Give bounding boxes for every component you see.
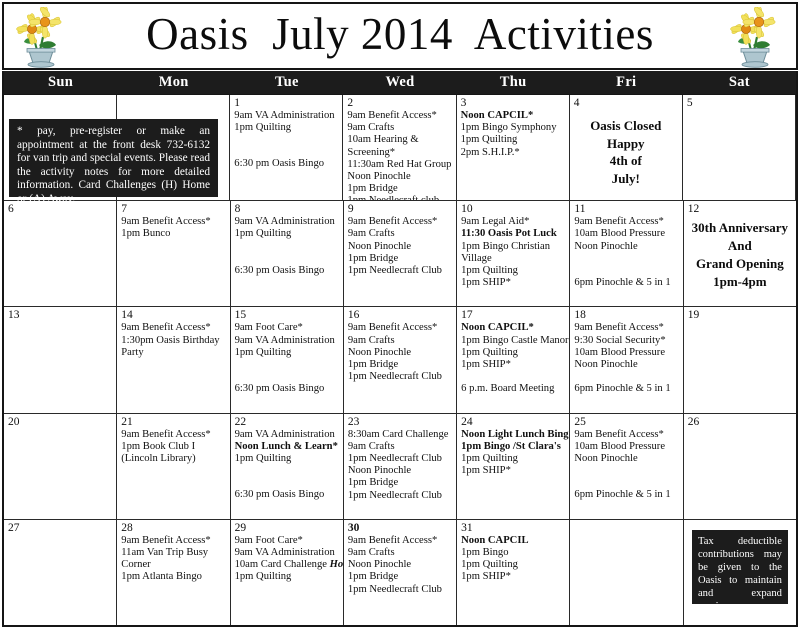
feature-line: Oasis Closed (574, 117, 678, 135)
day-number: 3 (461, 97, 565, 109)
event-item[interactable]: 1pm Bridge (348, 359, 452, 371)
calendar-day-cell[interactable]: 29am Benefit Access*9am Crafts10am Heari… (343, 95, 456, 200)
event-item[interactable]: 1pm Quilting (235, 228, 339, 240)
day-number: 15 (235, 309, 339, 321)
event-item[interactable]: 10am Blood Pressure (574, 441, 678, 453)
calendar-day-cell[interactable]: 159am Foot Care*9am VA Administration1pm… (231, 307, 344, 412)
day-events: 9am Benefit Access*9:30 Social Security*… (574, 322, 678, 395)
day-number: 10 (461, 203, 565, 215)
event-item[interactable]: 1pm Bingo Symphony (461, 122, 565, 134)
event-item[interactable]: 11:30am Red Hat Group (347, 159, 451, 171)
day-events: 9am Benefit Access*9am Crafts10am Hearin… (347, 110, 451, 200)
activity-notes-callout: * pay, pre-register or make an appointme… (9, 119, 218, 197)
event-item[interactable]: 1pm Quilting (234, 122, 338, 134)
event-item[interactable]: Noon Light Lunch Bingo (461, 429, 565, 441)
event-item[interactable]: 1pm SHIP* (461, 277, 565, 289)
day-number: 5 (687, 97, 791, 109)
event-item[interactable]: 9am Foot Care* (235, 322, 339, 334)
event-item[interactable]: 9am Benefit Access* (348, 216, 452, 228)
event-item[interactable]: (Lincoln Library) (121, 453, 225, 465)
event-item[interactable]: 9am Benefit Access* (574, 429, 678, 441)
event-item[interactable]: 1pm Bingo Castle Manor (461, 335, 565, 347)
event-item[interactable]: 9am Crafts (348, 547, 452, 559)
calendar-day-cell[interactable]: 6 (4, 201, 117, 306)
calendar-day-cell[interactable]: 4Oasis ClosedHappy4th ofJuly! (570, 95, 683, 200)
event-item[interactable]: 9am Benefit Access* (348, 322, 452, 334)
event-item[interactable]: Noon CAPCIL* (461, 322, 565, 334)
day-events: 9am VA AdministrationNoon Lunch & Learn*… (235, 429, 339, 502)
calendar-day-cell[interactable]: 17Noon CAPCIL*1pm Bingo Castle Manor1pm … (457, 307, 570, 412)
event-item[interactable]: 1pm Needlecraft Club (348, 453, 452, 465)
calendar-day-cell[interactable]: 169am Benefit Access*9am CraftsNoon Pino… (344, 307, 457, 412)
calendar-empty-cell[interactable] (570, 520, 683, 625)
event-item[interactable]: 9am VA Administration (235, 216, 339, 228)
event-item[interactable]: 1pm SHIP* (461, 571, 565, 583)
event-item[interactable]: 1pm Quilting (461, 559, 565, 571)
event-item[interactable]: 1pm Bingo /St Clara's (461, 441, 565, 453)
event-item[interactable]: Noon Pinochle (348, 465, 452, 477)
calendar-day-cell[interactable]: 19 (684, 307, 796, 412)
calendar-day-cell[interactable]: 99am Benefit Access*9am CraftsNoon Pinoc… (344, 201, 457, 306)
event-item[interactable]: 1pm Needlecraft Club (348, 584, 452, 596)
calendar-day-cell[interactable]: 189am Benefit Access*9:30 Social Securit… (570, 307, 683, 412)
event-item[interactable]: 9am Benefit Access* (348, 535, 452, 547)
event-item[interactable]: 11:30 Oasis Pot Luck (461, 228, 565, 240)
day-number: 1 (234, 97, 338, 109)
calendar-day-cell[interactable]: 27 (4, 520, 117, 625)
day-number: 27 (8, 522, 112, 534)
feature-line: 30th Anniversary (688, 219, 792, 237)
event-item[interactable]: Screening* (347, 147, 451, 159)
day-events: 9am Foot Care*9am VA Administration10am … (235, 535, 339, 584)
event-item[interactable]: 10am Hearing & (347, 134, 451, 146)
event-item[interactable]: 1pm Quilting (461, 134, 565, 146)
event-item[interactable]: 1pm Quilting (235, 347, 339, 359)
day-events: 9am Benefit Access*9am CraftsNoon Pinoch… (348, 322, 452, 383)
day-events: 9am Foot Care*9am VA Administration1pm Q… (235, 322, 339, 395)
day-events: 8:30am Card Challenge9am Crafts1pm Needl… (348, 429, 452, 502)
day-number: 17 (461, 309, 565, 321)
event-item[interactable]: 1pm Quilting (235, 453, 339, 465)
calendar-day-cell[interactable]: 24Noon Light Lunch Bingo1pm Bingo /St Cl… (457, 414, 570, 519)
event-item[interactable]: 9am Crafts (348, 441, 452, 453)
day-number: 29 (235, 522, 339, 534)
event-item[interactable]: 1pm Book Club I (121, 441, 225, 453)
day-number: 8 (235, 203, 339, 215)
event-item[interactable]: 1pm Needlecraft Club (348, 371, 452, 383)
calendar-day-cell[interactable]: 19am VA Administration1pm Quilting6:30 p… (230, 95, 343, 200)
event-item[interactable]: Noon Pinochle (574, 359, 678, 371)
day-of-week-header: Sun Mon Tue Wed Thu Fri Sat (2, 71, 798, 94)
event-item[interactable]: 9am Benefit Access* (121, 429, 225, 441)
sunflower-pot-icon (12, 7, 74, 69)
calendar-day-cell[interactable]: 109am Legal Aid*11:30 Oasis Pot Luck1pm … (457, 201, 570, 306)
event-item[interactable]: 9am VA Administration (235, 429, 339, 441)
day-number: 20 (8, 416, 112, 428)
event-item[interactable]: 1pm Quilting (235, 571, 339, 583)
day-number: 2 (347, 97, 451, 109)
event-item[interactable]: 9am VA Administration (234, 110, 338, 122)
event-item[interactable]: 9am Benefit Access* (574, 322, 678, 334)
event-item[interactable]: 9am Benefit Access* (121, 535, 225, 547)
event-item[interactable]: 6:30 pm Oasis Bingo (234, 158, 338, 170)
event-item[interactable]: 6:30 pm Oasis Bingo (235, 383, 339, 395)
day-header-fri: Fri (570, 71, 683, 94)
day-number: 21 (121, 416, 225, 428)
day-number: 11 (574, 203, 678, 215)
day-number: 31 (461, 522, 565, 534)
calendar-day-cell[interactable]: 5 (683, 95, 796, 200)
calendar-day-cell[interactable]: 119am Benefit Access*10am Blood Pressure… (570, 201, 683, 306)
day-number: 18 (574, 309, 678, 321)
feature-line: July! (574, 170, 678, 188)
calendar-page: Oasis July 2014 Activities (0, 0, 800, 628)
day-events: Noon CAPCIL*1pm Bingo Symphony1pm Quilti… (461, 110, 565, 159)
day-number: 7 (121, 203, 225, 215)
day-feature-text: 30th AnniversaryAndGrand Opening1pm-4pm (688, 219, 792, 291)
feature-line: 4th of (574, 152, 678, 170)
calendar-week-row: 20219am Benefit Access*1pm Book Club I(L… (4, 414, 796, 520)
day-number: 19 (688, 309, 792, 321)
event-item[interactable]: 1pm Bridge (348, 477, 452, 489)
event-item[interactable]: 1pm Quilting (461, 453, 565, 465)
tax-deductible-note: Tax deductible contributions may be give… (692, 530, 788, 604)
calendar-day-cell[interactable]: 149am Benefit Access*1:30pm Oasis Birthd… (117, 307, 230, 412)
event-item[interactable]: 9:30 Social Security* (574, 335, 678, 347)
day-events: Noon CAPCIL*1pm Bingo Castle Manor1pm Qu… (461, 322, 565, 395)
event-item[interactable]: 1pm SHIP* (461, 465, 565, 477)
day-header-sun: Sun (4, 71, 117, 94)
event-item[interactable]: 1pm Quilting (461, 265, 565, 277)
day-number: 25 (574, 416, 678, 428)
calendar-day-cell[interactable]: 259am Benefit Access*10am Blood Pressure… (570, 414, 683, 519)
feature-line: Grand Opening (688, 255, 792, 273)
day-events: 9am Benefit Access*1pm Book Club I(Linco… (121, 429, 225, 466)
event-item[interactable]: 10am Blood Pressure (574, 347, 678, 359)
day-events: Noon Light Lunch Bingo1pm Bingo /St Clar… (461, 429, 565, 478)
event-item[interactable]: 9am Benefit Access* (121, 216, 225, 228)
event-item[interactable]: 1pm SHIP* (461, 359, 565, 371)
day-header-thu: Thu (457, 71, 570, 94)
calendar-day-cell[interactable]: 219am Benefit Access*1pm Book Club I(Lin… (117, 414, 230, 519)
event-item[interactable]: Noon Pinochle (348, 559, 452, 571)
event-item[interactable]: 6 p.m. Board Meeting (461, 383, 565, 395)
calendar-day-cell[interactable]: 1230th AnniversaryAndGrand Opening1pm-4p… (684, 201, 796, 306)
event-item[interactable]: 6pm Pinochle & 5 in 1 (574, 383, 678, 395)
event-item[interactable]: 1pm Bridge (348, 571, 452, 583)
event-item[interactable]: 1pm Needlecraft club (347, 195, 451, 200)
calendar-day-cell[interactable]: 289am Benefit Access*11am Van Trip BusyC… (117, 520, 230, 625)
event-item[interactable]: Noon Lunch & Learn* (235, 441, 339, 453)
page-title: Oasis July 2014 Activities (146, 12, 654, 61)
event-item[interactable]: Noon Pinochle (348, 241, 452, 253)
feature-line: And (688, 237, 792, 255)
calendar-day-cell[interactable]: 299am Foot Care*9am VA Administration10a… (231, 520, 344, 625)
day-number: 9 (348, 203, 452, 215)
event-emphasis: Home (330, 559, 344, 570)
calendar-day-cell[interactable]: 3Noon CAPCIL*1pm Bingo Symphony1pm Quilt… (457, 95, 570, 200)
event-item[interactable]: 6pm Pinochle & 5 in 1 (574, 277, 678, 289)
day-events: 9am Benefit Access*1:30pm Oasis Birthday… (121, 322, 225, 359)
event-item[interactable]: 1pm Needlecraft Club (348, 490, 452, 502)
day-events: Noon CAPCIL1pm Bingo1pm Quilting1pm SHIP… (461, 535, 565, 584)
event-item[interactable]: 1pm Needlecraft Club (348, 265, 452, 277)
event-item[interactable]: 9am Crafts (348, 228, 452, 240)
feature-line: 1pm-4pm (688, 273, 792, 291)
calendar-day-cell[interactable]: 309am Benefit Access*9am CraftsNoon Pino… (344, 520, 457, 625)
day-header-wed: Wed (343, 71, 456, 94)
calendar-day-cell[interactable]: 26 (684, 414, 796, 519)
event-item[interactable]: 9am Benefit Access* (574, 216, 678, 228)
event-item[interactable]: Noon Pinochle (574, 453, 678, 465)
calendar-day-cell[interactable]: 79am Benefit Access*1pm Bunco (117, 201, 230, 306)
day-events: 9am Benefit Access*11am Van Trip BusyCor… (121, 535, 225, 584)
day-number: 22 (235, 416, 339, 428)
day-number: 26 (688, 416, 792, 428)
event-item[interactable]: 9am Crafts (347, 122, 451, 134)
event-item[interactable]: 6pm Pinochle & 5 in 1 (574, 489, 678, 501)
event-item[interactable]: Corner (121, 559, 225, 571)
day-events: 9am Legal Aid*11:30 Oasis Pot Luck1pm Bi… (461, 216, 565, 289)
event-item[interactable]: Party (121, 347, 225, 359)
day-events: 9am Benefit Access*1pm Bunco (121, 216, 225, 240)
day-number: 12 (688, 203, 792, 215)
day-number: 4 (574, 97, 678, 109)
event-item[interactable]: Noon CAPCIL* (461, 110, 565, 122)
event-item[interactable]: 2pm S.H.I.P.* (461, 147, 565, 159)
event-item[interactable]: 1pm Bingo (461, 547, 565, 559)
day-header-sat: Sat (683, 71, 796, 94)
day-feature-text: Oasis ClosedHappy4th ofJuly! (574, 117, 678, 187)
event-item[interactable]: 6:30 pm Oasis Bingo (235, 265, 339, 277)
event-item[interactable]: Noon Pinochle (348, 347, 452, 359)
event-item[interactable]: 9am Crafts (348, 335, 452, 347)
event-item[interactable]: 1pm Atlanta Bingo (121, 571, 225, 583)
event-item[interactable]: 8:30am Card Challenge (348, 429, 452, 441)
calendar-day-cell[interactable]: 20 (4, 414, 117, 519)
calendar-day-cell[interactable]: 89am VA Administration1pm Quilting6:30 p… (231, 201, 344, 306)
day-number: 13 (8, 309, 112, 321)
calendar-banner: Oasis July 2014 Activities (2, 2, 798, 70)
event-item[interactable]: Noon Pinochle (347, 171, 451, 183)
day-number: 14 (121, 309, 225, 321)
event-item[interactable]: 6:30 pm Oasis Bingo (235, 489, 339, 501)
event-item[interactable]: 9am VA Administration (235, 547, 339, 559)
event-item[interactable]: 1pm Bridge (347, 183, 451, 195)
event-item[interactable]: Noon Pinochle (574, 241, 678, 253)
sunflower-pot-icon (726, 7, 788, 69)
event-item[interactable]: 1pm Bunco (121, 228, 225, 240)
day-number: 23 (348, 416, 452, 428)
event-item[interactable]: Noon CAPCIL (461, 535, 565, 547)
day-events: 9am Benefit Access*9am CraftsNoon Pinoch… (348, 535, 452, 596)
calendar-week-row: 27289am Benefit Access*11am Van Trip Bus… (4, 520, 796, 625)
calendar-day-cell[interactable]: 13 (4, 307, 117, 412)
feature-line: Happy (574, 135, 678, 153)
event-item[interactable]: 10am Card Challenge Home (235, 559, 339, 571)
day-header-tue: Tue (230, 71, 343, 94)
calendar-grid: 19am VA Administration1pm Quilting6:30 p… (2, 94, 798, 627)
day-header-mon: Mon (117, 71, 230, 94)
event-item[interactable]: 1pm Quilting (461, 347, 565, 359)
day-number: 28 (121, 522, 225, 534)
calendar-week-row: 19am VA Administration1pm Quilting6:30 p… (4, 95, 796, 201)
day-events: 9am VA Administration1pm Quilting6:30 pm… (235, 216, 339, 277)
event-item[interactable]: 9am VA Administration (235, 335, 339, 347)
calendar-week-row: 679am Benefit Access*1pm Bunco89am VA Ad… (4, 201, 796, 307)
event-item[interactable]: 10am Blood Pressure (574, 228, 678, 240)
day-events: 9am Benefit Access*9am CraftsNoon Pinoch… (348, 216, 452, 277)
day-events: 9am Benefit Access*10am Blood PressureNo… (574, 429, 678, 502)
calendar-empty-cell[interactable]: Tax deductible contributions may be give… (684, 520, 796, 625)
calendar-day-cell[interactable]: 31Noon CAPCIL1pm Bingo1pm Quilting1pm SH… (457, 520, 570, 625)
event-item[interactable]: Village (461, 253, 565, 265)
event-item[interactable]: 9am Benefit Access* (121, 322, 225, 334)
event-item[interactable]: 1pm Bingo Christian (461, 241, 565, 253)
event-item[interactable]: 1pm Bridge (348, 253, 452, 265)
day-number: 16 (348, 309, 452, 321)
calendar-day-cell[interactable]: 238:30am Card Challenge9am Crafts1pm Nee… (344, 414, 457, 519)
event-item[interactable]: 9am Foot Care* (235, 535, 339, 547)
day-number: 30 (348, 522, 452, 534)
day-events: 9am VA Administration1pm Quilting6:30 pm… (234, 110, 338, 171)
event-item[interactable]: 9am Benefit Access* (347, 110, 451, 122)
day-events: 9am Benefit Access*10am Blood PressureNo… (574, 216, 678, 289)
event-item[interactable]: 1:30pm Oasis Birthday (121, 335, 225, 347)
calendar-day-cell[interactable]: 229am VA AdministrationNoon Lunch & Lear… (231, 414, 344, 519)
event-item[interactable]: 11am Van Trip Busy (121, 547, 225, 559)
calendar-week-row: 13149am Benefit Access*1:30pm Oasis Birt… (4, 307, 796, 413)
day-number: 24 (461, 416, 565, 428)
event-item[interactable]: 9am Legal Aid* (461, 216, 565, 228)
